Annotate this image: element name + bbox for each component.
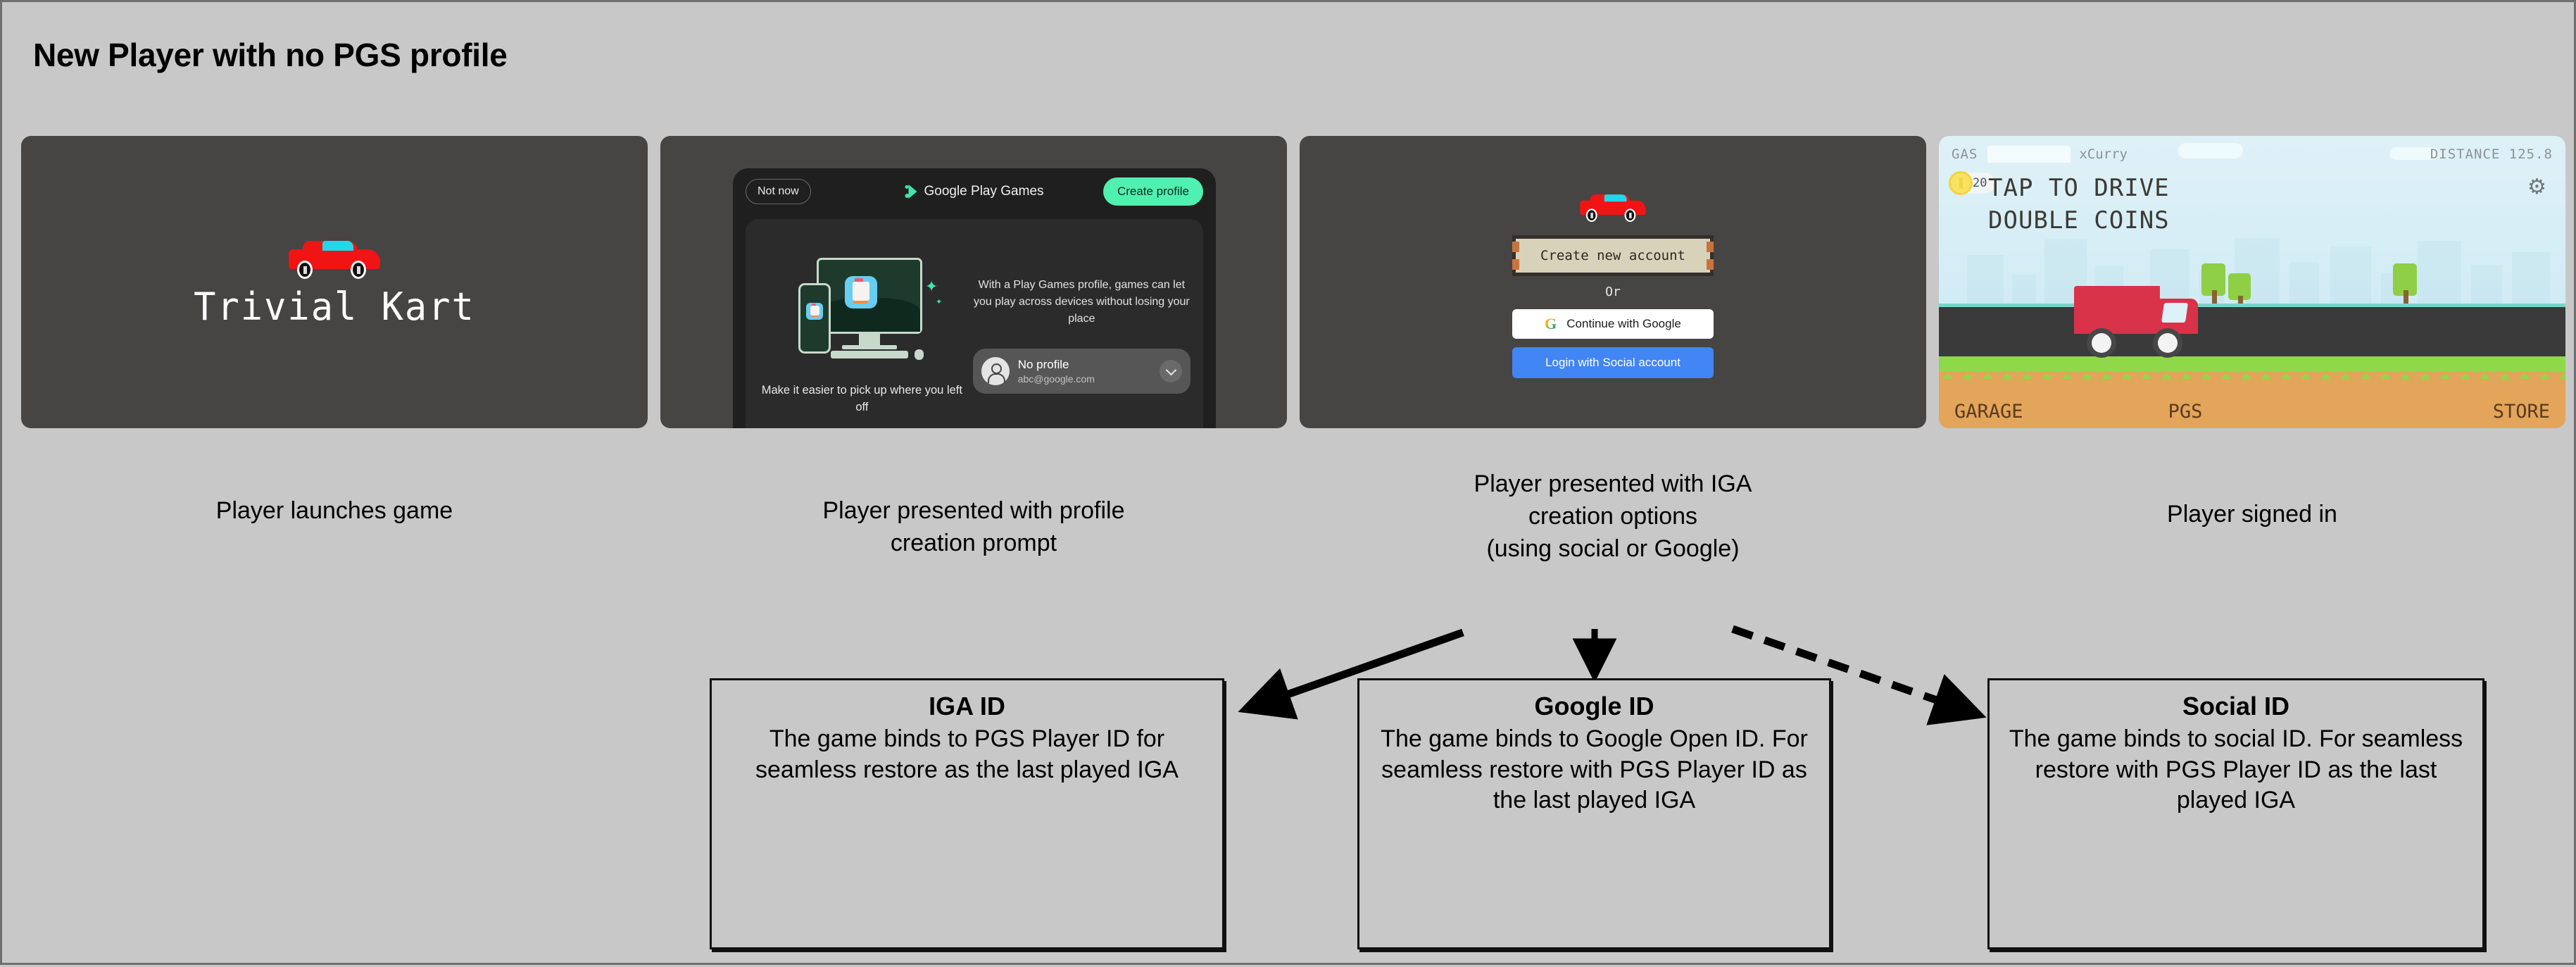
player-username: xCurry [2079, 146, 2128, 162]
caption-line: Player presented with IGA [1300, 468, 1926, 501]
google-logo-icon: G [1545, 315, 1557, 333]
panel-profile-prompt: Not now Google Play Games Create profile [660, 136, 1287, 428]
road [1939, 307, 2565, 358]
outcome-box-iga-id: IGA ID The game binds to PGS Player ID f… [710, 678, 1224, 949]
iga-options-screen: Create new account Or G Continue with Go… [1300, 136, 1926, 428]
gameplay-message: TAP TO DRIVE DOUBLE COINS [1988, 173, 2170, 237]
continue-with-google-button[interactable]: G Continue with Google [1512, 309, 1714, 339]
profile-email: abc@google.com [1018, 373, 1151, 385]
brand-label: Google Play Games [924, 184, 1043, 199]
avatar-icon [981, 357, 1010, 385]
caption-line: (using social or Google) [1300, 533, 1926, 566]
outcome-body: The game binds to PGS Player ID for seam… [727, 724, 1207, 785]
outcome-heading: Google ID [1375, 692, 1814, 721]
profile-texts: No profile abc@google.com [1018, 358, 1151, 385]
chevron-down-icon[interactable] [1160, 360, 1182, 382]
play-games-brand: Google Play Games [905, 184, 1043, 199]
game-scene: GAS xCurry DISTANCE 125.8 20 TAP TO DRIV… [1939, 136, 2565, 428]
game-nav-bar: GARAGE PGS STORE [1939, 401, 2565, 423]
nav-pgs-button[interactable]: PGS [2168, 401, 2203, 423]
caption-profile-prompt: Player presented with profile creation p… [660, 495, 1287, 560]
panel-strip: Trivial Kart Not now Google Play Games C… [2, 136, 2576, 428]
play-games-dialog: Not now Google Play Games Create profile [733, 168, 1216, 428]
caption-signed-in: Player signed in [1939, 499, 2565, 531]
caption-line: creation options [1300, 501, 1926, 533]
dirt-zigzag-edge [1939, 372, 2565, 385]
dialog-body: ✦ ✦ Make it easier to pick up where you … [746, 219, 1203, 428]
panel-iga-creation: Create new account Or G Continue with Go… [1300, 136, 1926, 428]
dialog-description: With a Play Games profile, games can let… [973, 277, 1190, 327]
player-truck-icon [2074, 282, 2201, 358]
create-new-account-label: Create new account [1540, 248, 1685, 263]
distance-value: 125.8 [2509, 146, 2553, 162]
panel-gameplay: GAS xCurry DISTANCE 125.8 20 TAP TO DRIV… [1939, 136, 2565, 428]
caption-launch: Player launches game [21, 495, 648, 528]
kart-car-icon [289, 237, 380, 276]
continue-with-google-label: Continue with Google [1566, 317, 1681, 331]
kart-car-icon [1580, 192, 1646, 220]
splash-screen: Trivial Kart [21, 136, 648, 428]
outcome-heading: Social ID [2005, 692, 2467, 721]
tree-icon [2393, 263, 2417, 307]
tree-icon [2201, 263, 2225, 307]
or-divider-label: Or [1605, 285, 1621, 299]
gameplay-message-line-2: DOUBLE COINS [1988, 205, 2170, 237]
coin-icon [1949, 171, 1973, 195]
gas-label: GAS [1952, 146, 1978, 162]
create-profile-button[interactable]: Create profile [1103, 177, 1203, 206]
illustration-caption: Make it easier to pick up where you left… [758, 382, 966, 416]
gear-icon[interactable]: ⚙ [2527, 177, 2549, 198]
outcome-body: The game binds to social ID. For seamles… [2005, 724, 2467, 816]
panel-launch-screen: Trivial Kart [21, 136, 648, 428]
outcome-body: The game binds to Google Open ID. For se… [1375, 724, 1814, 816]
not-now-button[interactable]: Not now [746, 179, 811, 204]
gameplay-message-line-1: TAP TO DRIVE [1988, 173, 2170, 205]
game-title: Trivial Kart [194, 285, 475, 329]
sparkle-icon: ✦ [925, 279, 938, 294]
play-games-logo-icon [905, 184, 917, 199]
caption-line: creation prompt [660, 528, 1287, 560]
hud-top-bar: GAS xCurry DISTANCE 125.8 [1939, 136, 2565, 173]
nav-store-button[interactable]: STORE [2493, 401, 2550, 423]
outcome-heading: IGA ID [727, 692, 1207, 721]
create-new-account-button[interactable]: Create new account [1512, 235, 1714, 276]
caption-iga-creation: Player presented with IGA creation optio… [1300, 468, 1926, 566]
distance-readout: DISTANCE 125.8 [2430, 146, 2553, 162]
profile-name: No profile [1018, 358, 1151, 372]
dialog-info-column: With a Play Games profile, games can let… [966, 235, 1190, 428]
outcome-box-social-id: Social ID The game binds to social ID. F… [1987, 678, 2484, 949]
devices-illustration-icon: ✦ ✦ [791, 255, 932, 371]
sparkle-small-icon: ✦ [936, 299, 942, 306]
outcome-box-google-id: Google ID The game binds to Google Open … [1357, 678, 1831, 949]
caption-line: Player presented with profile [660, 495, 1287, 528]
coin-count: 20 [1973, 176, 1987, 190]
nav-garage-button[interactable]: GARAGE [1954, 401, 2023, 423]
login-with-social-button[interactable]: Login with Social account [1512, 347, 1714, 378]
dialog-illustration-column: ✦ ✦ Make it easier to pick up where you … [758, 235, 966, 428]
dialog-header: Not now Google Play Games Create profile [733, 168, 1216, 215]
gas-bar [1987, 146, 2071, 163]
profile-selector[interactable]: No profile abc@google.com [973, 349, 1190, 394]
distance-label: DISTANCE [2430, 146, 2501, 162]
page-title: New Player with no PGS profile [33, 36, 507, 74]
